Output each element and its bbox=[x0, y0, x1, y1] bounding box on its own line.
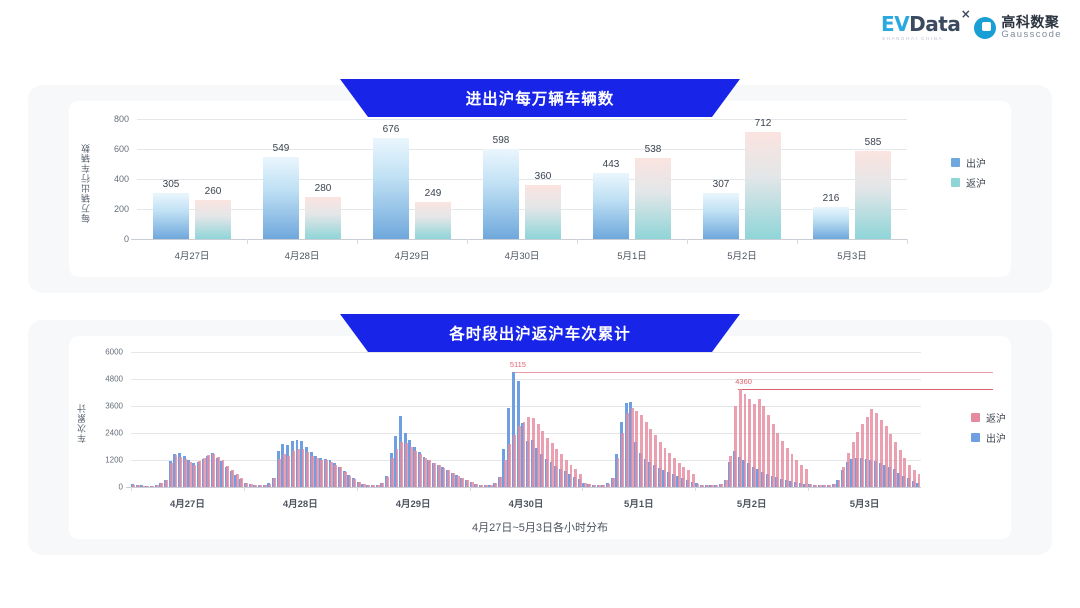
hourly-bar-back bbox=[170, 463, 173, 487]
hourly-x-tick-label: 4月29日 bbox=[396, 496, 431, 510]
daily-bar-value-label: 216 bbox=[823, 193, 840, 204]
hourly-bar-back bbox=[819, 485, 822, 487]
daily-y-tick: 600 bbox=[89, 144, 129, 154]
daily-bar-out bbox=[373, 138, 409, 239]
hourly-bar-back bbox=[461, 478, 464, 487]
daily-bar-out bbox=[593, 173, 629, 239]
hourly-bar-back bbox=[899, 450, 902, 487]
hourly-bar-back bbox=[885, 426, 888, 487]
hourly-bar-back bbox=[330, 462, 333, 487]
daily-legend-item[interactable]: 出沪 bbox=[951, 155, 986, 170]
hourly-x-tick-label: 4月27日 bbox=[170, 496, 205, 510]
hourly-x-tick-label: 5月2日 bbox=[737, 496, 767, 510]
hourly-legend-label: 返沪 bbox=[986, 410, 1006, 425]
hourly-bar-back bbox=[523, 422, 526, 487]
hourly-bar-back bbox=[428, 460, 431, 487]
daily-x-tick-label: 5月3日 bbox=[837, 248, 867, 262]
hourly-bar-back bbox=[584, 483, 587, 487]
daily-bar-value-label: 538 bbox=[645, 144, 662, 155]
daily-gridline bbox=[137, 119, 907, 120]
hourly-bar-back bbox=[480, 485, 483, 487]
hourly-bar-back bbox=[485, 485, 488, 487]
daily-bar-back bbox=[305, 197, 341, 239]
hourly-bar-back bbox=[424, 458, 427, 487]
hourly-bar-back bbox=[297, 449, 300, 487]
daily-gridline bbox=[137, 149, 907, 150]
hourly-bar-back bbox=[598, 485, 601, 487]
hourly-plot-area: 51154360 bbox=[131, 352, 921, 487]
hourly-y-tick: 1200 bbox=[83, 456, 123, 465]
gausscode-logo-en: Gausscode bbox=[1001, 30, 1062, 40]
hourly-bar-back bbox=[786, 448, 789, 487]
banner-hourly-trips-title: 各时段出沪返沪车次累计 bbox=[449, 322, 631, 344]
hourly-bar-back bbox=[772, 424, 775, 487]
hourly-bar-back bbox=[617, 458, 620, 487]
hourly-bar-back bbox=[156, 485, 159, 487]
hourly-bar-back bbox=[175, 455, 178, 487]
daily-y-tick: 200 bbox=[89, 204, 129, 214]
hourly-bar-back bbox=[490, 485, 493, 487]
daily-bar-back bbox=[415, 202, 451, 239]
hourly-bar-back bbox=[692, 474, 695, 488]
gausscode-mark-icon bbox=[974, 17, 996, 39]
hourly-bar-back bbox=[875, 413, 878, 487]
hourly-caption: 4月27日~5月3日各小时分布 bbox=[69, 519, 1011, 535]
hourly-bar-back bbox=[132, 485, 135, 487]
gausscode-logo: 高科数聚 Gausscode bbox=[974, 15, 1062, 40]
hourly-bar-back bbox=[551, 443, 554, 487]
daily-bar-value-label: 585 bbox=[865, 137, 882, 148]
hourly-bar-back bbox=[894, 442, 897, 487]
hourly-bar-back bbox=[852, 442, 855, 487]
evdata-logo-subtitle: SHANGHAI CHINA bbox=[882, 36, 943, 41]
hourly-bar-back bbox=[278, 459, 281, 487]
daily-bar-value-label: 260 bbox=[205, 186, 222, 197]
hourly-bar-back bbox=[198, 461, 201, 487]
hourly-bar-back bbox=[711, 485, 714, 487]
hourly-legend-swatch bbox=[971, 433, 980, 442]
hourly-x-tick-label: 5月1日 bbox=[624, 496, 654, 510]
hourly-bar-back bbox=[226, 466, 229, 487]
hourly-bar-back bbox=[231, 470, 234, 487]
hourly-y-tick: 4800 bbox=[83, 375, 123, 384]
daily-bar-back bbox=[525, 185, 561, 239]
hourly-bar-back bbox=[880, 420, 883, 488]
hourly-bar-back bbox=[363, 484, 366, 487]
daily-bar-value-label: 712 bbox=[755, 118, 772, 129]
hourly-bar-back bbox=[687, 470, 690, 487]
daily-gridline bbox=[137, 179, 907, 180]
hourly-x-tick-mark bbox=[131, 487, 132, 491]
hourly-bar-back bbox=[918, 474, 921, 487]
hourly-bar-back bbox=[870, 409, 873, 487]
hourly-bar-back bbox=[588, 484, 591, 487]
banner-hourly-trips: 各时段出沪返沪车次累计 bbox=[340, 314, 740, 352]
daily-x-tick-label: 4月30日 bbox=[505, 248, 540, 262]
hourly-bar-back bbox=[659, 442, 662, 487]
hourly-bar-back bbox=[842, 467, 845, 487]
hourly-bar-back bbox=[339, 467, 342, 487]
hourly-bar-back bbox=[452, 473, 455, 487]
hourly-bar-back bbox=[259, 485, 262, 487]
daily-bar-back bbox=[195, 200, 231, 239]
hourly-bar-back bbox=[377, 485, 380, 487]
hourly-bar-back bbox=[697, 484, 700, 487]
daily-bar-value-label: 676 bbox=[383, 124, 400, 135]
hourly-bar-back bbox=[729, 456, 732, 488]
hourly-bar-back bbox=[471, 482, 474, 487]
hourly-bar-back bbox=[334, 465, 337, 488]
daily-x-tick-mark bbox=[247, 239, 248, 244]
hourly-bar-back bbox=[833, 484, 836, 487]
hourly-bar-back bbox=[302, 449, 305, 487]
hourly-bar-back bbox=[151, 486, 154, 487]
hourly-bar-back bbox=[607, 484, 610, 487]
daily-x-tick-label: 5月2日 bbox=[727, 248, 757, 262]
hourly-bar-back bbox=[654, 435, 657, 487]
hourly-bar-back bbox=[823, 485, 826, 487]
daily-bar-out bbox=[153, 193, 189, 239]
hourly-bar-back bbox=[494, 483, 497, 487]
hourly-bar-back bbox=[513, 435, 516, 487]
hourly-bar-back bbox=[640, 415, 643, 487]
daily-y-tick: 800 bbox=[89, 114, 129, 124]
hourly-bar-back bbox=[189, 462, 192, 487]
hourly-bar-back bbox=[414, 451, 417, 487]
hourly-bar-back bbox=[311, 456, 314, 488]
hourly-x-tick-mark bbox=[357, 487, 358, 491]
card-hourly-trips: 51154360车次累计0120024003600480060004月27日4月… bbox=[69, 336, 1011, 539]
hourly-bar-back bbox=[203, 458, 206, 487]
daily-legend-item[interactable]: 返沪 bbox=[951, 175, 986, 190]
hourly-bar-back bbox=[532, 418, 535, 487]
hourly-bar-back bbox=[217, 457, 220, 487]
hourly-bar-back bbox=[734, 406, 737, 487]
hourly-bar-back bbox=[184, 459, 187, 487]
daily-bar-out bbox=[703, 193, 739, 239]
daily-bar-value-label: 249 bbox=[425, 188, 442, 199]
hourly-bar-back bbox=[814, 485, 817, 487]
page-root: EVData × SHANGHAI CHINA 高科数聚 Gausscode 3… bbox=[0, 0, 1080, 608]
hourly-bar-back bbox=[838, 480, 841, 487]
hourly-bar-back bbox=[353, 479, 356, 487]
evdata-logo-data: Data bbox=[909, 12, 960, 36]
daily-bar-back bbox=[635, 158, 671, 239]
hourly-x-tick-mark bbox=[582, 487, 583, 491]
hourly-bar-back bbox=[555, 449, 558, 487]
hourly-bar-back bbox=[635, 411, 638, 488]
hourly-bar-back bbox=[142, 486, 145, 487]
hourly-bar-back bbox=[410, 447, 413, 488]
hourly-bar-back bbox=[767, 415, 770, 487]
hourly-bar-back bbox=[207, 455, 210, 487]
hourly-bar-back bbox=[866, 417, 869, 487]
hourly-y-tick: 3600 bbox=[83, 402, 123, 411]
hourly-bar-back bbox=[306, 452, 309, 487]
hourly-bar-back bbox=[753, 404, 756, 487]
hourly-bar-back bbox=[903, 458, 906, 487]
hourly-bar-back bbox=[222, 460, 225, 487]
hourly-legend-item[interactable]: 返沪 bbox=[971, 410, 1006, 425]
hourly-legend-item[interactable]: 出沪 bbox=[971, 430, 1006, 445]
hourly-bar-back bbox=[560, 454, 563, 487]
hourly-bar-back bbox=[748, 399, 751, 487]
daily-legend-swatch bbox=[951, 178, 960, 187]
hourly-x-tick-label: 4月30日 bbox=[509, 496, 544, 510]
daily-bar-value-label: 443 bbox=[603, 159, 620, 170]
hourly-bar-back bbox=[739, 389, 742, 487]
hourly-bar-back bbox=[828, 485, 831, 487]
daily-x-tick-label: 5月1日 bbox=[617, 248, 647, 262]
hourly-bar-back bbox=[861, 424, 864, 487]
daily-x-tick-label: 4月27日 bbox=[175, 248, 210, 262]
hourly-bar-back bbox=[499, 477, 502, 487]
hourly-bar-back bbox=[273, 478, 276, 487]
daily-x-tick-label: 4月29日 bbox=[395, 248, 430, 262]
hourly-bar-back bbox=[809, 484, 812, 487]
hourly-bar-back bbox=[386, 477, 389, 487]
hourly-bar-back bbox=[316, 458, 319, 487]
daily-bar-value-label: 549 bbox=[273, 143, 290, 154]
hourly-bar-back bbox=[565, 460, 568, 487]
hourly-bar-back bbox=[438, 465, 441, 487]
daily-x-tick-mark bbox=[577, 239, 578, 244]
hourly-bar-back bbox=[720, 484, 723, 487]
hourly-bar-back bbox=[165, 480, 168, 487]
hourly-bar-back bbox=[405, 443, 408, 487]
hourly-bar-back bbox=[367, 485, 370, 487]
daily-x-tick-mark bbox=[357, 239, 358, 244]
hourly-bar-back bbox=[725, 480, 728, 487]
daily-bar-value-label: 307 bbox=[713, 179, 730, 190]
hourly-x-tick-label: 5月3日 bbox=[850, 496, 880, 510]
daily-y-tick: 400 bbox=[89, 174, 129, 184]
evdata-logo: EVData × SHANGHAI CHINA bbox=[881, 14, 960, 41]
hourly-x-tick-mark bbox=[808, 487, 809, 491]
daily-legend-swatch bbox=[951, 158, 960, 167]
hourly-bar-back bbox=[283, 454, 286, 487]
hourly-x-tick-mark bbox=[695, 487, 696, 491]
hourly-bar-back bbox=[626, 413, 629, 487]
daily-legend: 出沪返沪 bbox=[951, 155, 986, 190]
hourly-bar-back bbox=[758, 399, 761, 487]
hourly-bar-back bbox=[240, 478, 243, 487]
hourly-bar-back bbox=[264, 485, 267, 487]
hourly-bar-back bbox=[381, 483, 384, 487]
hourly-bar-back bbox=[400, 442, 403, 487]
hourly-bar-back bbox=[800, 465, 803, 487]
hourly-bar-back bbox=[212, 454, 215, 487]
hourly-bar-back bbox=[847, 453, 850, 487]
hourly-gridline bbox=[131, 379, 921, 380]
hourly-bar-back bbox=[570, 465, 573, 487]
daily-x-tick-mark bbox=[467, 239, 468, 244]
hourly-bar-back bbox=[791, 454, 794, 487]
hourly-bar-back bbox=[631, 408, 634, 487]
hourly-bar-back bbox=[325, 460, 328, 487]
hourly-bar-back bbox=[391, 458, 394, 487]
hourly-bar-back bbox=[344, 472, 347, 487]
chart-hourly-trips: 51154360车次累计0120024003600480060004月27日4月… bbox=[69, 336, 1011, 539]
daily-gridline bbox=[137, 209, 907, 210]
hourly-bar-back bbox=[250, 484, 253, 487]
back-peak-line bbox=[738, 389, 993, 390]
card-daily-vehicles: 3052605492806762495983604435383077122165… bbox=[69, 101, 1011, 277]
hourly-bar-back bbox=[908, 465, 911, 488]
daily-x-tick-mark bbox=[797, 239, 798, 244]
hourly-bar-back bbox=[433, 463, 436, 487]
hourly-bar-back bbox=[287, 456, 290, 488]
hourly-bar-back bbox=[537, 424, 540, 487]
hourly-bar-back bbox=[706, 485, 709, 487]
hourly-bar-back bbox=[236, 474, 239, 487]
hourly-bar-back bbox=[504, 460, 507, 487]
hourly-bar-back bbox=[372, 485, 375, 487]
hourly-bar-back bbox=[541, 431, 544, 487]
daily-legend-label: 出沪 bbox=[966, 155, 986, 170]
panel-hourly-trips: 51154360车次累计0120024003600480060004月27日4月… bbox=[28, 320, 1052, 555]
hourly-y-tick: 2400 bbox=[83, 429, 123, 438]
hourly-bar-back bbox=[621, 433, 624, 487]
hourly-bar-back bbox=[508, 444, 511, 487]
header-logos: EVData × SHANGHAI CHINA 高科数聚 Gausscode bbox=[881, 14, 1062, 41]
hourly-bar-back bbox=[795, 460, 798, 487]
daily-legend-label: 返沪 bbox=[966, 175, 986, 190]
daily-bar-value-label: 305 bbox=[163, 179, 180, 190]
daily-bar-back bbox=[855, 151, 891, 239]
daily-x-tick-label: 4月28日 bbox=[285, 248, 320, 262]
hourly-bar-back bbox=[396, 449, 399, 487]
hourly-bar-back bbox=[320, 460, 323, 487]
hourly-bar-back bbox=[715, 485, 718, 487]
hourly-bar-back bbox=[546, 438, 549, 488]
hourly-bar-back bbox=[269, 484, 272, 487]
daily-x-tick-mark bbox=[687, 239, 688, 244]
hourly-bar-back bbox=[668, 453, 671, 487]
hourly-legend: 返沪出沪 bbox=[971, 410, 1006, 445]
hourly-bar-back bbox=[160, 483, 163, 487]
gausscode-logo-text: 高科数聚 Gausscode bbox=[1001, 15, 1062, 40]
hourly-bar-back bbox=[475, 484, 478, 487]
hourly-bar-back bbox=[673, 458, 676, 487]
daily-bar-value-label: 360 bbox=[535, 171, 552, 182]
back-peak-value: 4360 bbox=[735, 377, 752, 386]
hourly-bar-back bbox=[254, 485, 257, 487]
daily-x-tick-mark bbox=[907, 239, 908, 244]
hourly-bar-back bbox=[682, 467, 685, 487]
hourly-bar-back bbox=[612, 478, 615, 487]
hourly-bar-back bbox=[776, 433, 779, 487]
hourly-x-tick-label: 4月28日 bbox=[283, 496, 318, 510]
banner-daily-vehicles: 进出沪每万辆车辆数 bbox=[340, 79, 740, 117]
evdata-logo-x-icon: × bbox=[961, 8, 971, 20]
hourly-axis-baseline bbox=[126, 487, 921, 488]
hourly-x-tick-mark bbox=[244, 487, 245, 491]
hourly-bar-back bbox=[805, 469, 808, 487]
hourly-bar-back bbox=[889, 434, 892, 487]
hourly-bar-back bbox=[645, 422, 648, 487]
hourly-bar-back bbox=[602, 485, 605, 487]
daily-bar-value-label: 598 bbox=[493, 135, 510, 146]
hourly-y-tick: 0 bbox=[83, 483, 123, 492]
daily-y-tick: 0 bbox=[89, 234, 129, 244]
hourly-bar-back bbox=[358, 482, 361, 487]
hourly-bar-back bbox=[664, 448, 667, 487]
hourly-bar-back bbox=[579, 474, 582, 488]
daily-bar-out bbox=[263, 157, 299, 239]
hourly-bar-back bbox=[245, 483, 248, 487]
hourly-bar-back bbox=[574, 469, 577, 487]
hourly-bar-back bbox=[856, 432, 859, 487]
hourly-bar-back bbox=[292, 451, 295, 487]
hourly-bar-back bbox=[146, 486, 149, 487]
daily-bar-out bbox=[483, 149, 519, 239]
evdata-logo-ev: EV bbox=[881, 12, 909, 36]
hourly-bar-back bbox=[649, 429, 652, 488]
hourly-y-tick: 6000 bbox=[83, 348, 123, 357]
daily-plot-area: 3052605492806762495983604435383077122165… bbox=[137, 119, 907, 239]
hourly-legend-label: 出沪 bbox=[986, 430, 1006, 445]
hourly-bar-back bbox=[447, 470, 450, 487]
hourly-bar-back bbox=[349, 476, 352, 487]
hourly-bar-back bbox=[137, 485, 140, 487]
out-peak-value: 5115 bbox=[510, 360, 526, 369]
hourly-bar-back bbox=[457, 476, 460, 487]
out-peak-line bbox=[512, 372, 993, 373]
hourly-bar-back bbox=[781, 441, 784, 487]
gausscode-logo-cn: 高科数聚 bbox=[1001, 15, 1062, 30]
hourly-bar-back bbox=[701, 485, 704, 487]
hourly-x-tick-mark bbox=[470, 487, 471, 491]
chart-daily-vehicles: 3052605492806762495983604435383077122165… bbox=[69, 101, 1011, 277]
hourly-legend-swatch bbox=[971, 413, 980, 422]
hourly-bar-back bbox=[179, 457, 182, 487]
hourly-gridline bbox=[131, 433, 921, 434]
hourly-bar-back bbox=[518, 426, 521, 487]
daily-bar-back bbox=[745, 132, 781, 239]
hourly-bar-back bbox=[762, 406, 765, 487]
hourly-bar-back bbox=[466, 480, 469, 487]
hourly-bar-back bbox=[419, 454, 422, 487]
hourly-bar-back bbox=[193, 465, 196, 488]
hourly-bar-back bbox=[443, 468, 446, 487]
hourly-bar-back bbox=[527, 417, 530, 487]
hourly-bar-back bbox=[593, 485, 596, 487]
daily-bar-out bbox=[813, 207, 849, 239]
banner-daily-vehicles-title: 进出沪每万辆车辆数 bbox=[466, 87, 615, 109]
evdata-logo-wordmark: EVData × bbox=[881, 14, 960, 34]
hourly-gridline bbox=[131, 352, 921, 353]
hourly-bar-back bbox=[913, 470, 916, 487]
hourly-bar-back bbox=[744, 394, 747, 487]
hourly-gridline bbox=[131, 406, 921, 407]
hourly-bar-back bbox=[678, 463, 681, 487]
daily-bar-value-label: 280 bbox=[315, 183, 332, 194]
